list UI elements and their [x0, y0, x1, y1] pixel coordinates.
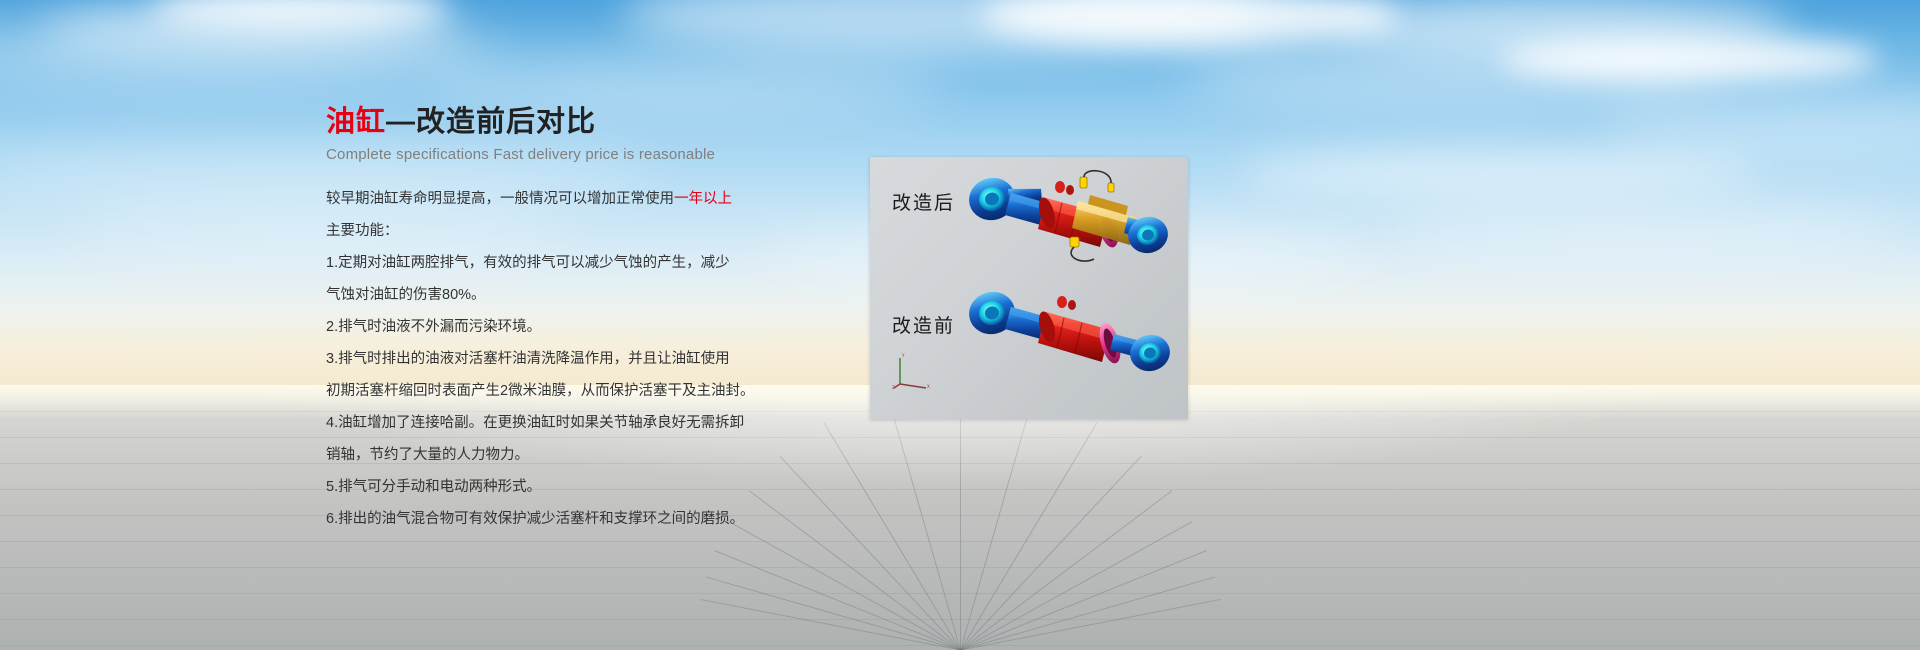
feature-line: 1.定期对油缸两腔排气，有效的排气可以减少气蚀的产生，减少	[326, 249, 746, 277]
svg-text:Z: Z	[892, 385, 895, 390]
page-title: 油缸—改造前后对比	[326, 104, 746, 140]
feature-line: 5.排气可分手动和电动两种形式。	[326, 473, 746, 501]
cylinder-after-render	[958, 165, 1173, 275]
feature-line: 初期活塞杆缩回时表面产生2微米油膜，从而保护活塞干及主油封。	[326, 377, 746, 405]
ground-haze	[0, 385, 1920, 650]
label-after-modification: 改造后	[892, 188, 955, 215]
label-before-modification: 改造前	[892, 311, 955, 338]
feature-line: 3.排气时排出的油液对活塞杆油清洗降温作用，并且让油缸使用	[326, 345, 746, 373]
copy-block: 油缸—改造前后对比 Complete specifications Fast d…	[326, 104, 746, 537]
intro-highlight: 一年以上	[674, 191, 732, 207]
feature-line: 6.排出的油气混合物可有效保护减少活塞杆和支撑环之间的磨损。	[326, 505, 746, 533]
svg-text:Y: Y	[901, 353, 905, 358]
title-rest: —改造前后对比	[386, 106, 596, 138]
title-highlight: 油缸	[326, 106, 386, 138]
feature-line: 4.油缸增加了连接哈副。在更换油缸时如果关节轴承良好无需拆卸	[326, 409, 746, 437]
cylinder-before-render	[958, 279, 1173, 389]
intro-text: 较早期油缸寿命明显提高，一般情况可以增加正常使用	[326, 191, 674, 207]
ground-plaza	[0, 385, 1920, 650]
feature-line: 气蚀对油缸的伤害80%。	[326, 281, 746, 309]
feature-line: 销轴，节约了大量的人力物力。	[326, 441, 746, 469]
features-heading: 主要功能：	[326, 217, 746, 245]
page-subtitle: Complete specifications Fast delivery pr…	[326, 146, 746, 163]
feature-line: 2.排气时油液不外漏而污染环境。	[326, 313, 746, 341]
body-copy: 较早期油缸寿命明显提高，一般情况可以增加正常使用一年以上 主要功能： 1.定期对…	[326, 185, 746, 533]
cylinder-comparison-panel: 改造后 改造前 Y X Z	[870, 157, 1188, 419]
axis-triad-icon: Y X Z	[892, 350, 938, 390]
banner-stage: 油缸—改造前后对比 Complete specifications Fast d…	[0, 0, 1920, 650]
svg-text:X: X	[927, 384, 930, 389]
intro-line: 较早期油缸寿命明显提高，一般情况可以增加正常使用一年以上	[326, 185, 746, 213]
